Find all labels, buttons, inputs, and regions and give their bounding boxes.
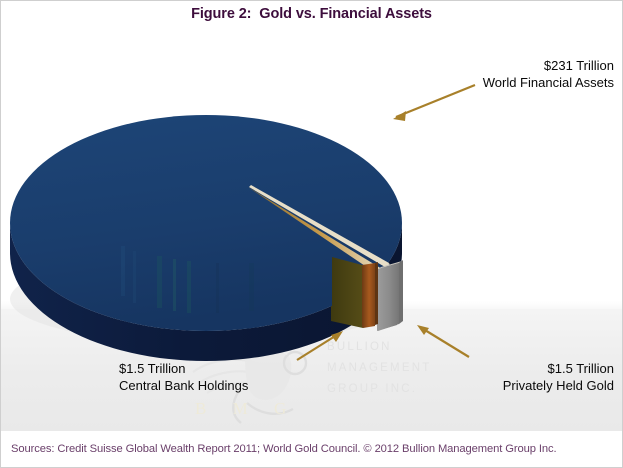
pie-wedge-gray-edge bbox=[399, 260, 403, 324]
pie-wedge-orange-face bbox=[362, 263, 375, 327]
callout-central-value: $1.5 Trillion bbox=[119, 360, 248, 377]
callout-world-financial-assets: $231 Trillion World Financial Assets bbox=[483, 57, 614, 91]
pie-wedge-gray-face bbox=[378, 263, 399, 331]
callout-private-name: Privately Held Gold bbox=[503, 377, 614, 394]
pie-wedge-olive-face bbox=[332, 257, 362, 327]
callout-privately-held-gold: $1.5 Trillion Privately Held Gold bbox=[503, 360, 614, 394]
callout-private-value: $1.5 Trillion bbox=[503, 360, 614, 377]
pie-wedge-orange-shadow bbox=[375, 262, 378, 325]
callout-central-name: Central Bank Holdings bbox=[119, 377, 248, 394]
figure-container: Figure 2: Gold vs. Financial Assets bbox=[0, 0, 623, 468]
arrow-world-financial-assets bbox=[393, 85, 475, 121]
callout-world-name: World Financial Assets bbox=[483, 74, 614, 91]
callout-world-value: $231 Trillion bbox=[483, 57, 614, 74]
arrow-privately-held-gold bbox=[417, 325, 469, 357]
callout-central-bank-holdings: $1.5 Trillion Central Bank Holdings bbox=[119, 360, 248, 394]
sources-line: Sources: Credit Suisse Global Wealth Rep… bbox=[11, 443, 557, 455]
